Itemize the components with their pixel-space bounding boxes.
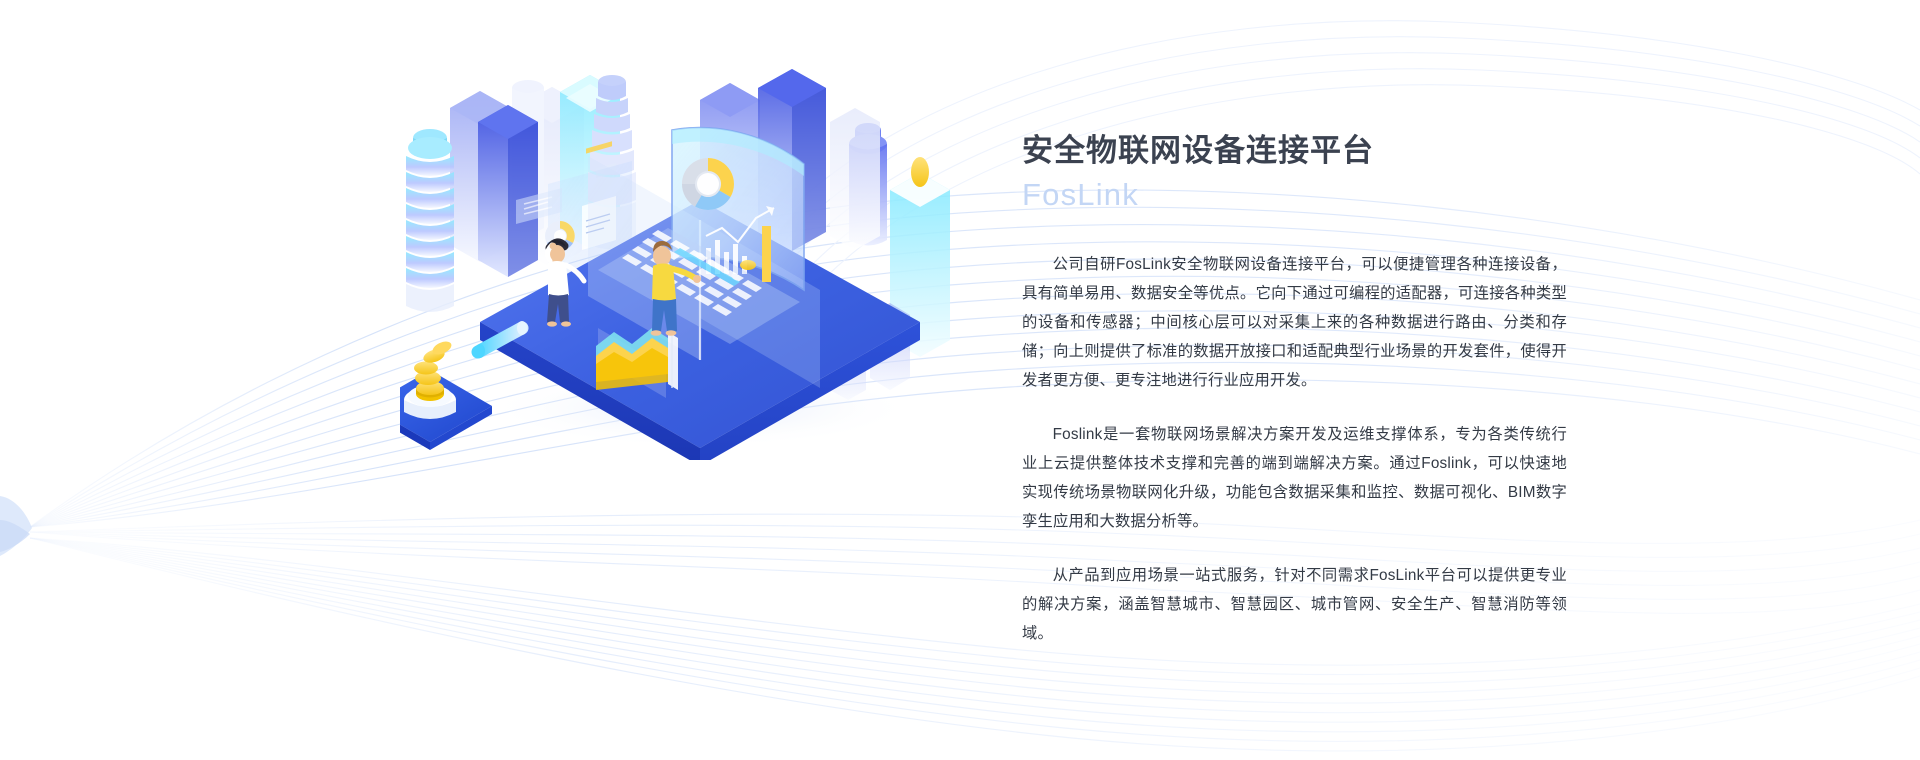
description-paragraph-1: 公司自研FosLink安全物联网设备连接平台，可以便捷管理各种连接设备，具有简单… — [1022, 250, 1567, 395]
description-block: 公司自研FosLink安全物联网设备连接平台，可以便捷管理各种连接设备，具有简单… — [1022, 250, 1582, 648]
screen-donut-chart — [682, 158, 734, 210]
floating-coin — [911, 157, 929, 187]
gold-token — [740, 260, 756, 270]
iot-platform-illustration — [400, 60, 990, 460]
description-paragraph-3: 从产品到应用场景一站式服务，针对不同需求FosLink平台可以提供更专业的解决方… — [1022, 561, 1567, 648]
hero-content: 安全物联网设备连接平台 FosLink 公司自研FosLink安全物联网设备连接… — [1022, 130, 1582, 648]
building-pale-right — [830, 108, 880, 250]
page-title: 安全物联网设备连接平台 — [1022, 130, 1582, 172]
description-paragraph-2: Foslink是一套物联网场景解决方案开发及运维支撑体系，专为各类传统行业上云提… — [1022, 420, 1567, 536]
pagoda-tower — [406, 129, 454, 312]
page-subtitle: FosLink — [1022, 174, 1582, 216]
building-blue-1 — [478, 105, 538, 277]
hero-section: 安全物联网设备连接平台 FosLink 公司自研FosLink安全物联网设备连接… — [0, 0, 1920, 760]
